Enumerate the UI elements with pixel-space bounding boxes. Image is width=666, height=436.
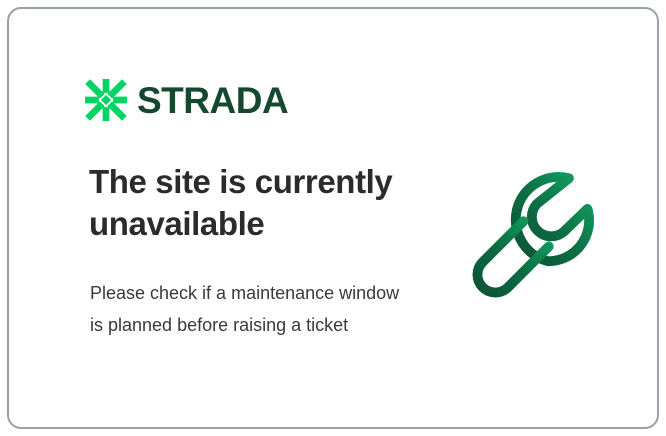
asterisk-star-icon (85, 79, 127, 121)
page-description: Please check if a maintenance window is … (90, 277, 400, 341)
error-page: STRADA The site is currently unavailable… (0, 0, 666, 436)
page-title: The site is currently unavailable (89, 161, 419, 245)
brand-logo: STRADA (85, 79, 288, 121)
wrench-icon (465, 165, 619, 319)
brand-name: STRADA (137, 82, 288, 119)
status-card: STRADA The site is currently unavailable… (7, 7, 659, 429)
